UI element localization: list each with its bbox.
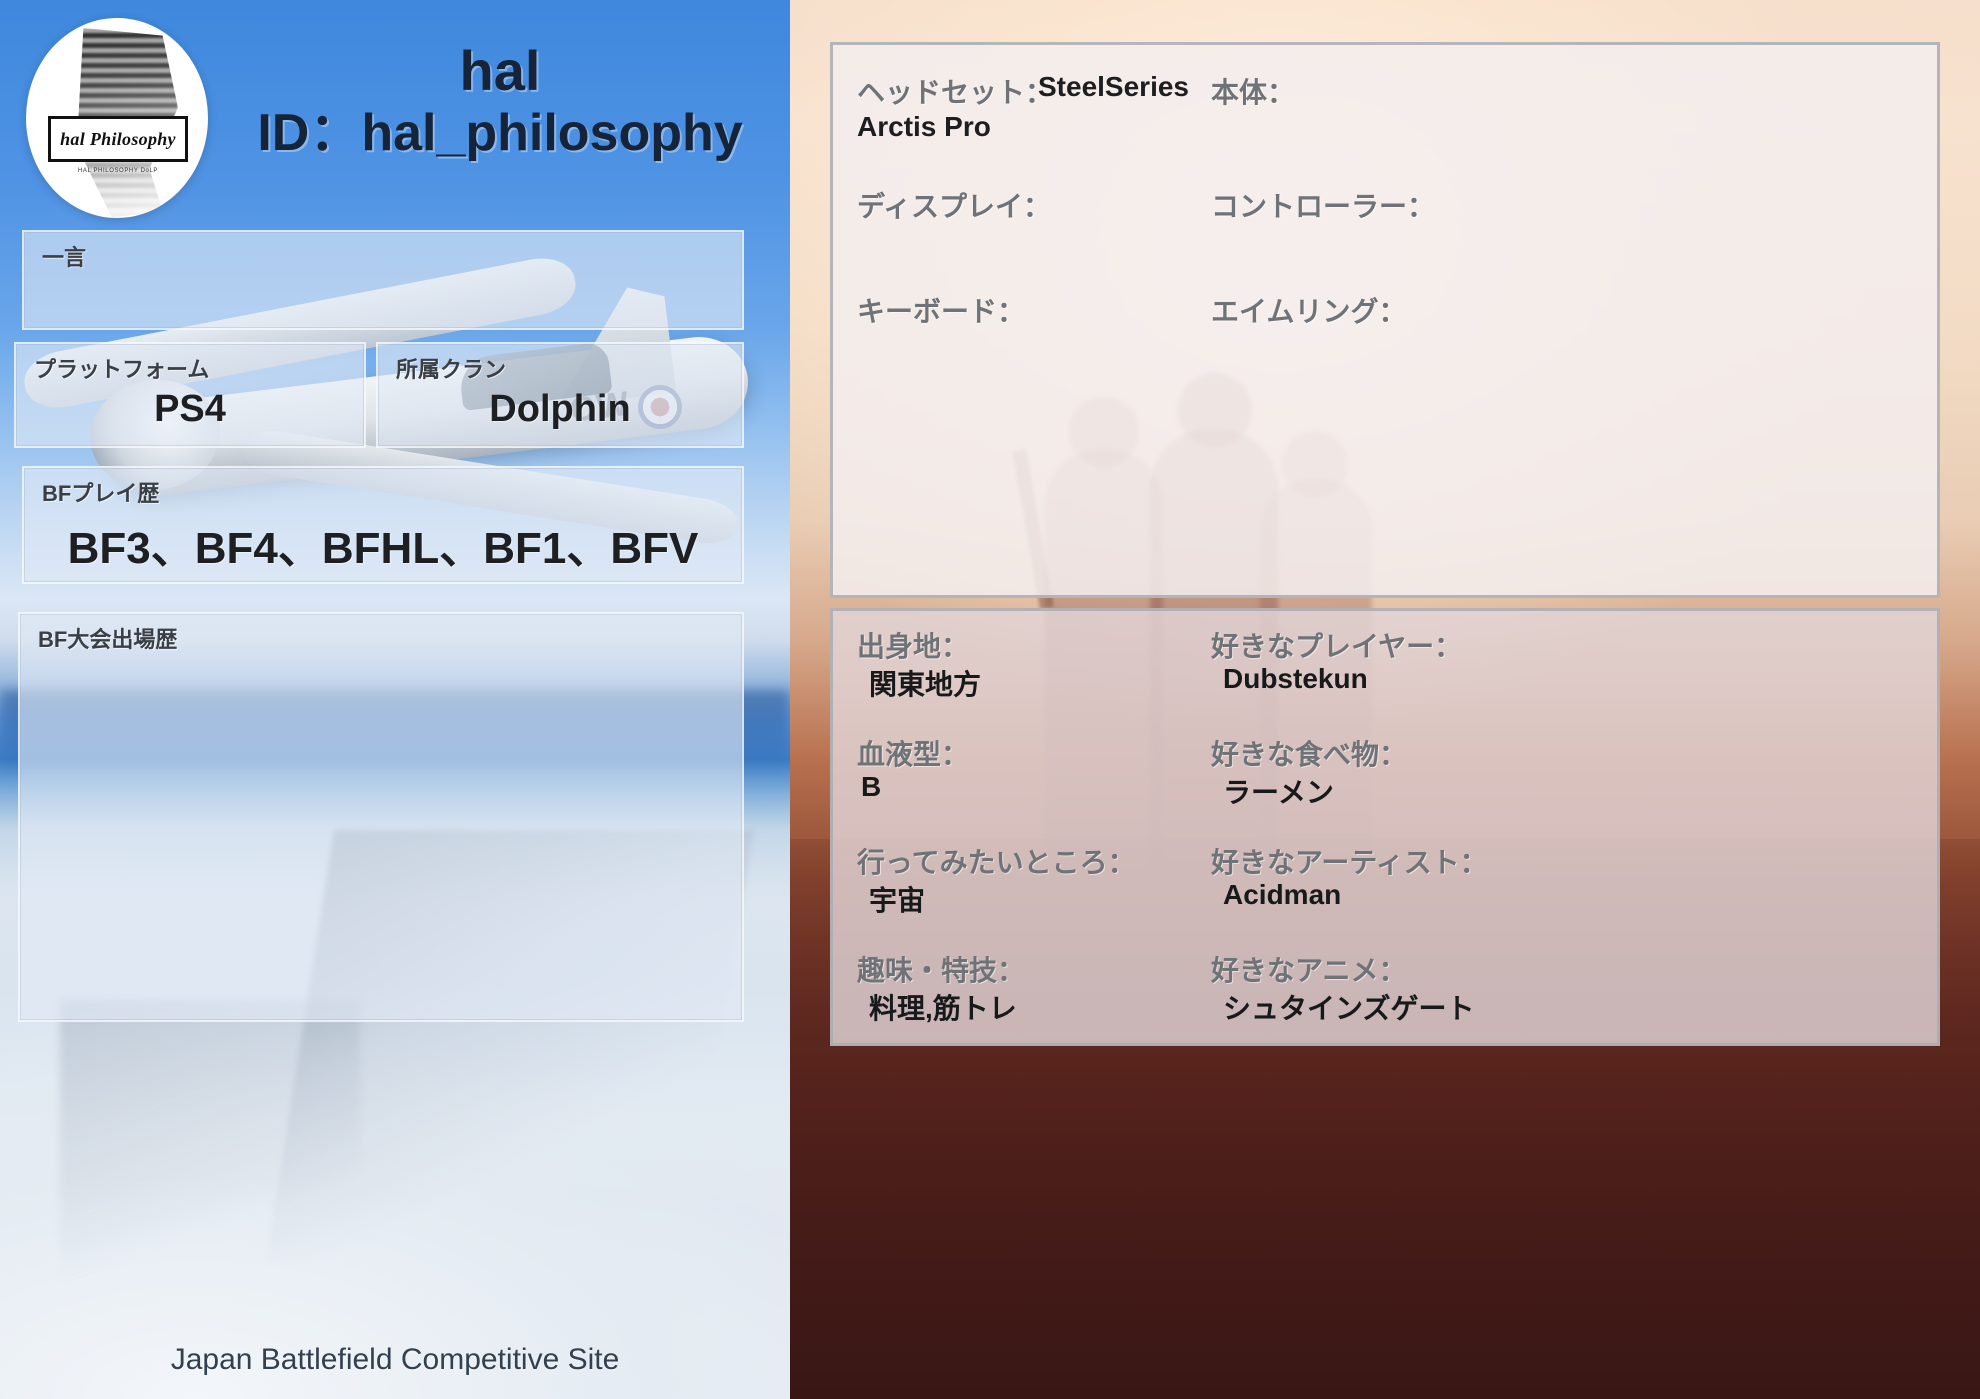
avatar-subtext: HAL PHILOSOPHY DoLP xyxy=(48,168,188,174)
player-profile-card: CW hal Philosophy HAL PHILOSOPHY DoLP ha… xyxy=(0,0,1980,1399)
field-bf-tournament-history-label: BF大会出場歴 xyxy=(38,622,177,654)
page-title: hal ID：hal_philosophy xyxy=(230,42,770,166)
right-panel: ヘッドセット： SteelSeries Arctis Pro ディスプレイ： キ… xyxy=(790,0,1980,1399)
field-bf-play-history-value: BF3、BF4、BFHL、BF1、BFV xyxy=(24,512,742,576)
site-footer-text: Japan Battlefield Competitive Site xyxy=(0,1343,790,1377)
profile-favorite-anime-label: 好きなアニメ： xyxy=(1211,949,1406,989)
profile-favorite-anime-value: シュタインズゲート xyxy=(1223,987,1474,1027)
avatar-nameplate-text: hal Philosophy xyxy=(60,129,176,150)
left-panel: CW hal Philosophy HAL PHILOSOPHY DoLP ha… xyxy=(0,0,790,1399)
gear-aimring-label: エイムリング： xyxy=(1211,290,1406,330)
avatar[interactable]: hal Philosophy HAL PHILOSOPHY DoLP xyxy=(26,18,208,218)
profile-hobby-label: 趣味・特技： xyxy=(857,949,1025,989)
field-clan-label: 所属クラン xyxy=(396,352,506,384)
gear-headset-value-2: Arctis Pro xyxy=(857,111,991,143)
left-content: hal Philosophy HAL PHILOSOPHY DoLP hal I… xyxy=(0,0,790,1399)
gear-headset-label: ヘッドセット： xyxy=(857,71,1053,111)
field-clan: 所属クラン Dolphin xyxy=(376,342,744,448)
player-id: ID：hal_philosophy xyxy=(230,101,770,166)
gear-console-label: 本体： xyxy=(1211,71,1295,111)
profile-favorite-player-value: Dubstekun xyxy=(1223,663,1368,695)
profile-favorite-food-value: ラーメン xyxy=(1223,771,1334,811)
field-bf-play-history: BFプレイ歴 BF3、BF4、BFHL、BF1、BFV xyxy=(22,466,744,584)
profile-dream-place-value: 宇宙 xyxy=(869,879,925,919)
profile-favorite-artist-value: Acidman xyxy=(1223,879,1341,911)
gear-controller-label: コントローラー： xyxy=(1211,185,1435,225)
profile-favorite-food-label: 好きな食べ物： xyxy=(1211,733,1407,773)
field-bf-tournament-history: BF大会出場歴 xyxy=(18,612,744,1022)
gear-keyboard-label: キーボード： xyxy=(857,290,1025,330)
avatar-nameplate: hal Philosophy xyxy=(48,116,188,162)
field-platform-label: プラットフォーム xyxy=(34,352,209,384)
field-hitokoto-label: 一言 xyxy=(42,240,86,272)
profile-bloodtype-label: 血液型： xyxy=(857,733,969,773)
gear-section: ヘッドセット： SteelSeries Arctis Pro ディスプレイ： キ… xyxy=(830,42,1940,598)
profile-section: 出身地： 関東地方 血液型： B 行ってみたいところ： 宇宙 趣味・特技： 料理… xyxy=(830,608,1940,1046)
field-clan-value: Dolphin xyxy=(378,388,742,431)
field-platform-value: PS4 xyxy=(16,388,364,431)
profile-favorite-artist-label: 好きなアーティスト： xyxy=(1211,841,1488,881)
profile-hometown-value: 関東地方 xyxy=(869,663,981,703)
profile-dream-place-label: 行ってみたいところ： xyxy=(857,841,1136,881)
field-hitokoto: 一言 xyxy=(22,230,744,330)
avatar-artwork: hal Philosophy HAL PHILOSOPHY DoLP xyxy=(26,18,208,218)
profile-favorite-player-label: 好きなプレイヤー： xyxy=(1211,625,1462,665)
player-name: hal xyxy=(230,42,770,101)
profile-hobby-value: 料理,筋トレ xyxy=(869,987,1017,1027)
field-bf-play-history-label: BFプレイ歴 xyxy=(42,476,159,508)
profile-bloodtype-value: B xyxy=(861,771,881,803)
profile-hometown-label: 出身地： xyxy=(857,625,969,665)
gear-display-label: ディスプレイ： xyxy=(857,185,1051,225)
gear-headset-value-1: SteelSeries xyxy=(1038,71,1189,103)
field-platform: プラットフォーム PS4 xyxy=(14,342,366,448)
